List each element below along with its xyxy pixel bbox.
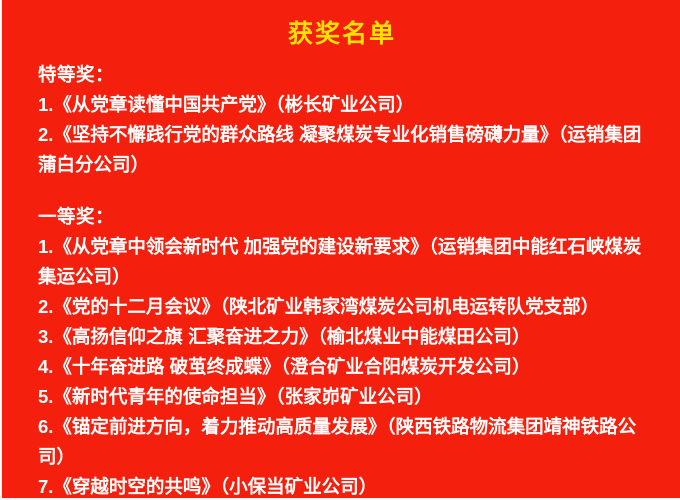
award-item: 1.《从党章读懂中国共产党》（彬长矿业公司）: [38, 90, 650, 120]
award-item: 2.《党的十二月会议》（陕北矿业韩家湾煤炭公司机电运转队党支部）: [38, 292, 650, 322]
section-divider-spacer: [38, 180, 650, 202]
award-item: 6.《锚定前进方向，着力推动高质量发展》（陕西铁路物流集团靖神铁路公司）: [38, 412, 650, 472]
award-section-first: 一等奖： 1.《从党章中领会新时代 加强党的建设新要求》（运销集团中能红石峡煤炭…: [38, 202, 650, 500]
award-list-body: 特等奖： 1.《从党章读懂中国共产党》（彬长矿业公司） 2.《坚持不懈践行党的群…: [38, 60, 650, 500]
page-title: 获奖名单: [2, 18, 680, 50]
award-item: 7.《穿越时空的共鸣》（小保当矿业公司）: [38, 472, 650, 500]
section-heading-special: 特等奖：: [38, 60, 650, 90]
section-heading-first: 一等奖：: [38, 202, 650, 232]
award-item: 2.《坚持不懈践行党的群众路线 凝聚煤炭专业化销售磅礴力量》（运销集团蒲白分公司…: [38, 120, 650, 180]
award-section-special: 特等奖： 1.《从党章读懂中国共产党》（彬长矿业公司） 2.《坚持不懈践行党的群…: [38, 60, 650, 180]
award-list-poster: 获奖名单 特等奖： 1.《从党章读懂中国共产党》（彬长矿业公司） 2.《坚持不懈…: [0, 0, 680, 500]
award-item: 3.《高扬信仰之旗 汇聚奋进之力》（榆北煤业中能煤田公司）: [38, 322, 650, 352]
award-item: 5.《新时代青年的使命担当》（张家峁矿业公司）: [38, 382, 650, 412]
award-item: 1.《从党章中领会新时代 加强党的建设新要求》（运销集团中能红石峡煤炭集运公司）: [38, 232, 650, 292]
award-item: 4.《十年奋进路 破茧终成蝶》（澄合矿业合阳煤炭开发公司）: [38, 352, 650, 382]
